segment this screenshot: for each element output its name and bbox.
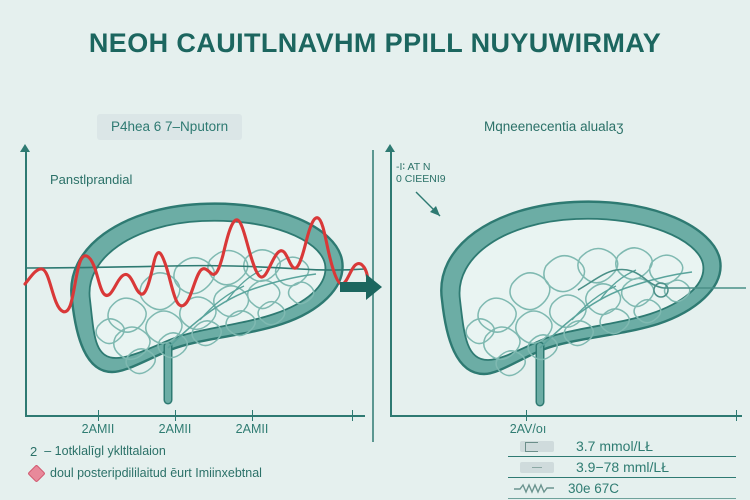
page-title: NEOH CAUITLNAVHM PPILL NUYUWIRMAY — [0, 28, 750, 59]
zigzag-swatch-icon — [514, 482, 554, 494]
legend-item-2: doul posteripdililaitud ēurt Imiinxebtna… — [30, 462, 370, 484]
left-y-axis-arrow-icon — [20, 144, 30, 152]
left-inner-label: Panstlprandial — [50, 172, 132, 187]
left-tick-label-2: 2AMII — [159, 422, 192, 436]
right-tick-label-1: 2AV/оı — [510, 422, 547, 436]
value-row-3: 30е 67С — [508, 478, 736, 499]
infographic-root: NEOH CAUITLNAVHM PPILL NUYUWIRMAY P4hea … — [0, 0, 750, 500]
left-x-axis — [25, 415, 365, 417]
legend-item-1: 2 – 1otklalīgl ykltltalaion — [30, 440, 370, 462]
right-value-table: 3.7 mmol/LŁ 3.9−78 mml/LŁ 30е 67С — [508, 436, 736, 499]
right-tick-1 — [526, 410, 527, 421]
left-tick-1 — [98, 410, 99, 421]
left-panel-chip: P4hea 6 7–Nputorn — [97, 114, 242, 140]
left-tick-4 — [352, 410, 353, 421]
left-panel: Panstlprandial — [0, 150, 372, 440]
right-tick-2 — [736, 410, 737, 421]
right-panel-chip: Mqneenecentia alualaʒ — [470, 114, 637, 140]
pancreas-illustration-right — [420, 188, 730, 410]
transition-arrow-icon — [340, 272, 382, 302]
flag-swatch-icon — [520, 441, 554, 452]
legend-item-1-label: – 1otklalīgl ykltltalaion — [44, 444, 166, 458]
value-row-1-value: 3.7 mmol/LŁ — [576, 438, 653, 454]
left-tick-label-3: 2AMII — [236, 422, 269, 436]
left-tick-label-1: 2AMII — [82, 422, 115, 436]
value-row-2: 3.9−78 mml/LŁ — [508, 457, 736, 478]
left-tick-2 — [175, 410, 176, 421]
legend-item-2-label: doul posteripdililaitud ēurt Imiinxebtna… — [50, 466, 262, 480]
value-row-1: 3.7 mmol/LŁ — [508, 436, 736, 457]
left-legend: 2 – 1otklalīgl ykltltalaion doul posteri… — [30, 440, 370, 484]
value-row-3-value: 30е 67С — [568, 481, 619, 496]
diamond-marker-icon — [27, 464, 45, 482]
left-tick-3 — [252, 410, 253, 421]
right-panel: ‐I∶ AT N 0 CIEENI9 — [378, 150, 750, 440]
pancreas-illustration-left — [50, 188, 350, 408]
legend-number-marker: 2 — [30, 444, 37, 459]
left-y-axis — [25, 150, 27, 416]
dash-swatch-icon — [520, 462, 554, 473]
value-row-2-value: 3.9−78 mml/LŁ — [576, 459, 669, 475]
